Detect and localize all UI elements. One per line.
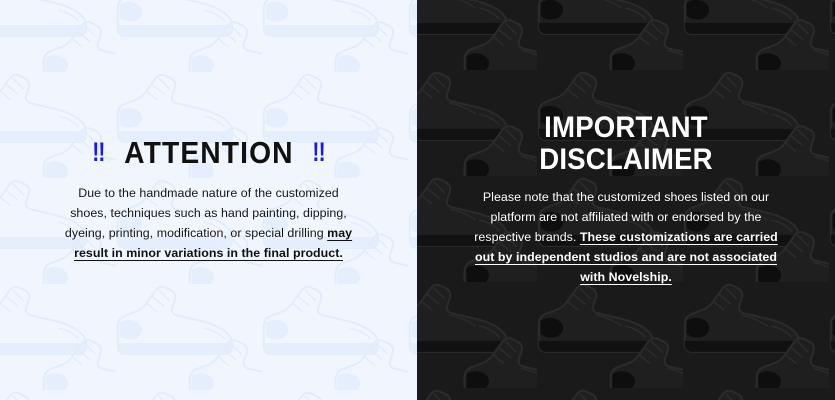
disclaimer-content: IMPORTANT DISCLAIMER Please note that th… [417, 112, 835, 287]
disclaimer-body-text: Please note that the customized shoes li… [465, 187, 787, 287]
attention-content: !! ATTENTION !! Due to the handmade natu… [0, 137, 417, 264]
double-exclamation-icon-left: !! [92, 139, 104, 167]
attention-panel: !! ATTENTION !! Due to the handmade natu… [0, 0, 417, 400]
attention-body-normal: Due to the handmade nature of the custom… [65, 186, 347, 240]
disclaimer-heading-line-1: IMPORTANT [458, 112, 795, 144]
double-exclamation-icon-right: !! [313, 139, 325, 167]
disclaimer-panel: IMPORTANT DISCLAIMER Please note that th… [417, 0, 835, 400]
attention-heading: !! ATTENTION !! [31, 137, 385, 169]
attention-body-text: Due to the handmade nature of the custom… [59, 183, 359, 263]
disclaimer-heading: IMPORTANT DISCLAIMER [458, 112, 795, 176]
customization-notice-banner: !! ATTENTION !! Due to the handmade natu… [0, 0, 835, 400]
attention-heading-word: ATTENTION [124, 137, 293, 169]
disclaimer-heading-line-2: DISCLAIMER [458, 144, 795, 176]
